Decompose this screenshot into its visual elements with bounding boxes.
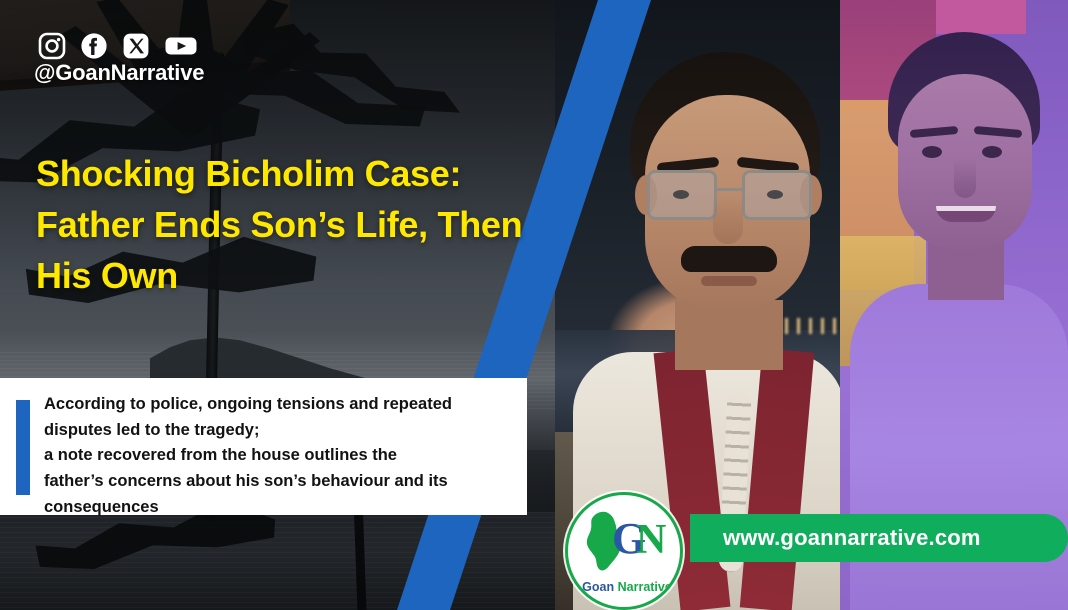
x-twitter-icon[interactable] [122, 32, 150, 60]
headline-line-3: His Own [36, 250, 596, 301]
instagram-icon[interactable] [38, 32, 66, 60]
website-url-text: www.goannarrative.com [723, 525, 981, 551]
caption-accent-bar [16, 400, 30, 495]
logo-word-narrative: Narrative [618, 580, 672, 594]
logo-word-goan: Goan [582, 580, 614, 594]
social-icon-row [38, 32, 198, 60]
eyeglass-lens-right [742, 170, 812, 220]
logo-wordmark: Goan Narrative [568, 581, 683, 594]
headline-line-2: Father Ends Son’s Life, Then [36, 199, 596, 250]
caption-text: According to police, ongoing tensions an… [44, 392, 514, 521]
website-url-bar[interactable]: www.goannarrative.com [690, 514, 1068, 562]
father-mouth [701, 276, 757, 286]
caption-line-5: consequences [44, 495, 514, 521]
headline-line-1: Shocking Bicholim Case: [36, 148, 596, 199]
logo-letter-n: N [636, 519, 666, 561]
facebook-icon[interactable] [80, 32, 108, 60]
caption-line-3: a note recovered from the house outlines… [44, 443, 514, 469]
youtube-icon[interactable] [164, 32, 198, 60]
caption-line-2: disputes led to the tragedy; [44, 418, 514, 444]
social-handle: @GoanNarrative [34, 60, 204, 86]
father-neck [675, 300, 783, 370]
caption-line-4: father’s concerns about his son’s behavi… [44, 469, 514, 495]
eyeglass-bridge [717, 188, 743, 191]
eyeglass-lens-left [647, 170, 717, 220]
headline: Shocking Bicholim Case: Father Ends Son’… [36, 148, 596, 301]
news-graphic-card: @GoanNarrative Shocking Bicholim Case: F… [0, 0, 1068, 610]
caption-line-1: According to police, ongoing tensions an… [44, 392, 514, 418]
caption-box: According to police, ongoing tensions an… [0, 378, 527, 515]
father-nose [713, 196, 743, 244]
father-mustache [681, 246, 777, 272]
brand-logo[interactable]: G N Goan Narrative [565, 492, 683, 610]
